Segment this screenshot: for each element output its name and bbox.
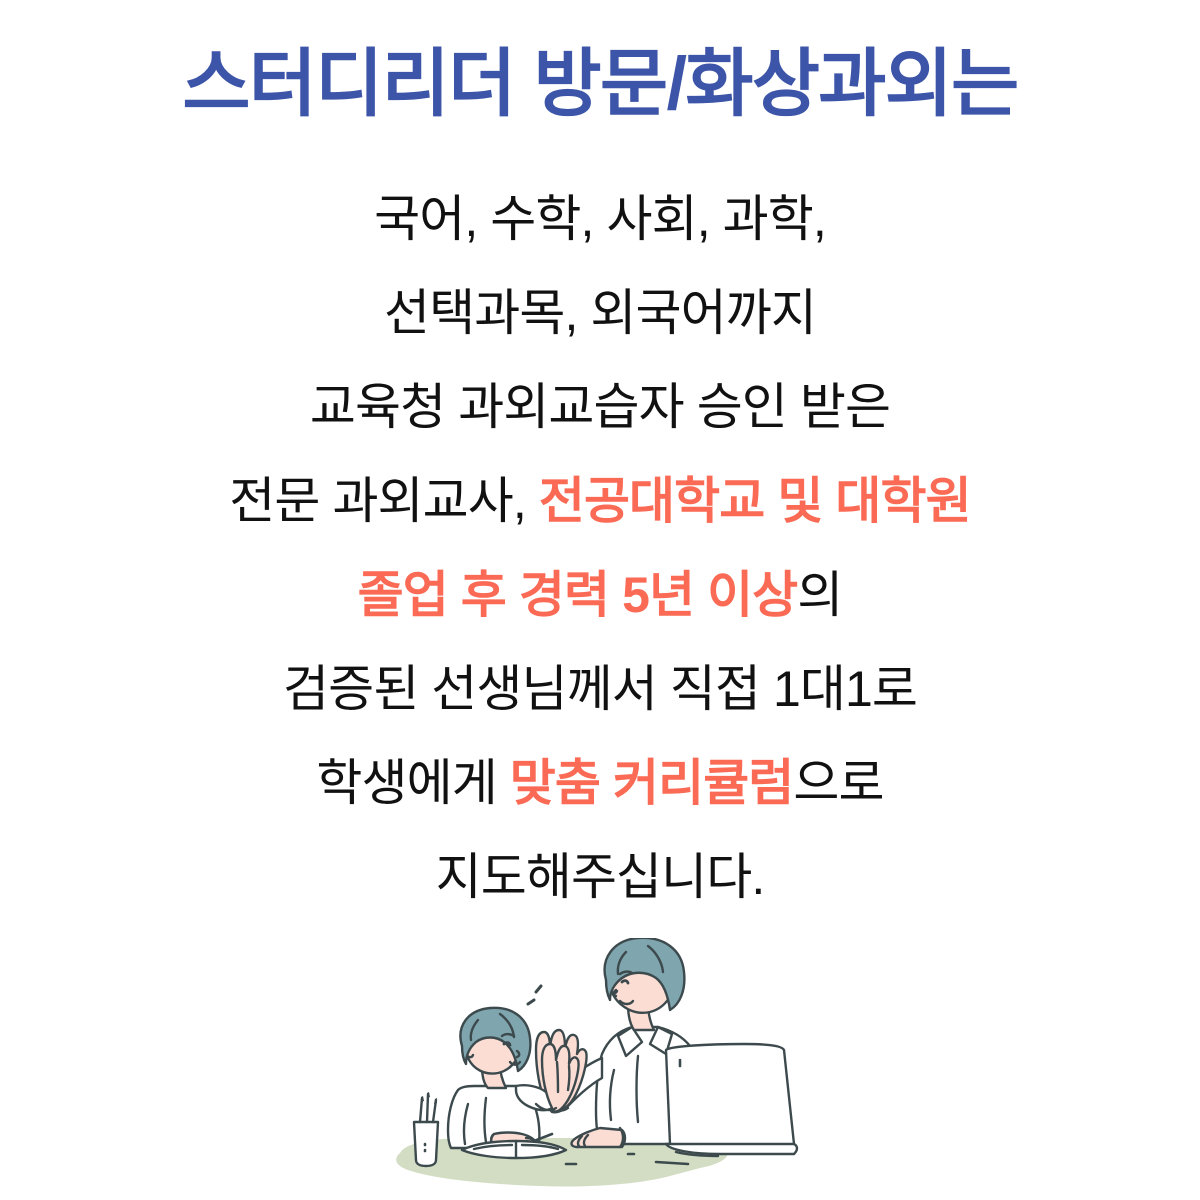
copy-line-1: 국어, 수학, 사회, 과학, [0,172,1200,266]
student-hand-line-2 [568,1066,569,1090]
copy-line-2-text: 선택과목, 외국어까지 [384,285,816,341]
body-copy-block: 국어, 수학, 사회, 과학, 선택과목, 외국어까지 교육청 과외교습자 승인… [0,172,1200,924]
copy-line-5: 졸업 후 경력 5년 이상의 [0,548,1200,642]
copy-line-8-text: 지도해주십니다. [436,849,765,905]
copy-line-3: 교육청 과외교습자 승인 받은 [0,360,1200,454]
laptop-screen [666,1044,794,1150]
cup-pencil-fill-2 [427,1092,430,1098]
copy-line-8: 지도해주십니다. [0,830,1200,924]
open-notebook [462,1141,566,1158]
poster-root: 스터디리더 방문/화상과외는 국어, 수학, 사회, 과학, 선택과목, 외국어… [0,0,1200,1200]
copy-line-5-highlight: 졸업 후 경력 5년 이상 [358,567,798,623]
copy-line-2: 선택과목, 외국어까지 [0,266,1200,360]
motion-mark-2 [528,1000,534,1004]
copy-line-7-highlight: 맞춤 커리큘럼 [510,755,794,811]
illustration-svg [370,938,830,1200]
student-hand-line-1 [557,1062,558,1092]
copy-line-4-text: 전문 과외교사, [229,473,539,529]
cup-pencil-fill-3 [434,1098,437,1104]
copy-line-6: 검증된 선생님께서 직접 1대1로 [0,642,1200,736]
motion-mark-1 [536,986,541,992]
page-title: 스터디리더 방문/화상과외는 [0,42,1200,126]
copy-line-6-text: 검증된 선생님께서 직접 1대1로 [283,661,917,717]
copy-line-5-text: 의 [797,567,842,623]
cup-pencil-2 [427,1094,428,1122]
copy-line-4: 전문 과외교사, 전공대학교 및 대학원 [0,454,1200,548]
laptop-base [666,1144,797,1154]
copy-line-7: 학생에게 맞춤 커리큘럼으로 [0,736,1200,830]
copy-line-3-text: 교육청 과외교습자 승인 받은 [310,379,890,435]
copy-line-4-highlight: 전공대학교 및 대학원 [539,473,971,529]
copy-line-7-text-a: 학생에게 [316,755,509,811]
high-five-illustration [370,938,830,1200]
copy-line-1-text: 국어, 수학, 사회, 과학, [374,191,826,247]
copy-line-7-text-b: 으로 [793,755,883,811]
cup-pencil-fill-1 [421,1096,424,1102]
